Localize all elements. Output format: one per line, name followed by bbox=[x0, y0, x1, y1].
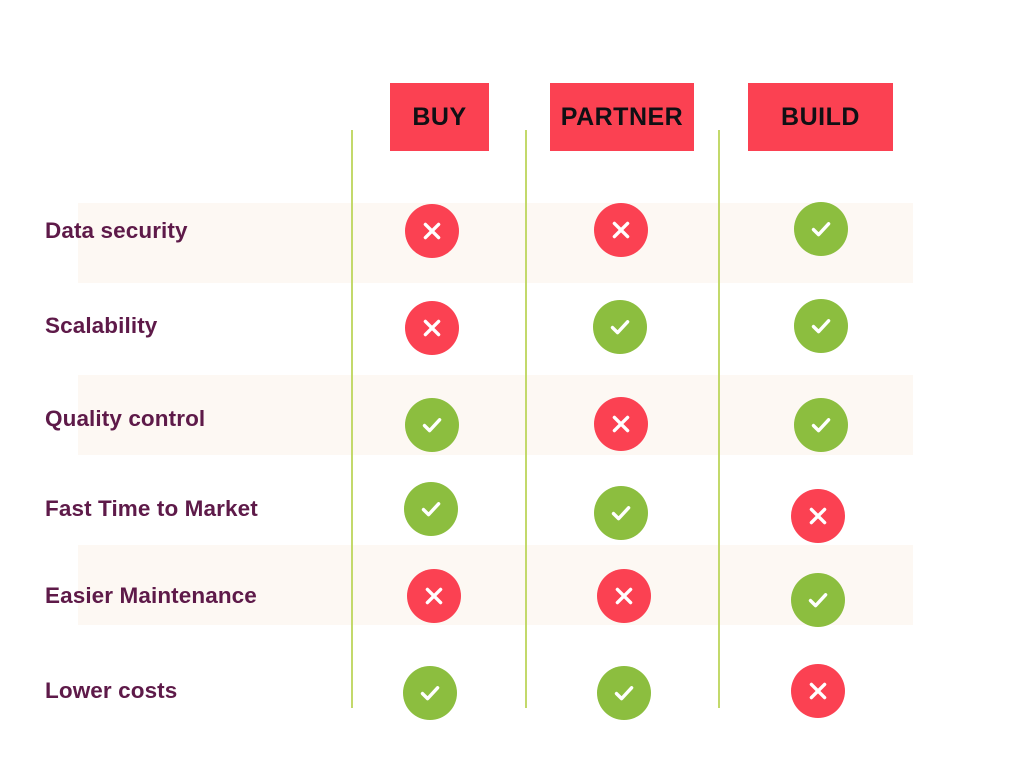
check-circle-icon bbox=[403, 666, 457, 720]
check-circle-icon bbox=[404, 482, 458, 536]
cross-circle-icon bbox=[594, 397, 648, 451]
check-circle-icon bbox=[794, 398, 848, 452]
cross-circle-icon bbox=[405, 204, 459, 258]
row-label: Fast Time to Market bbox=[45, 496, 258, 522]
row-label: Lower costs bbox=[45, 678, 177, 704]
cross-circle-icon bbox=[791, 489, 845, 543]
row-label: Scalability bbox=[45, 313, 157, 339]
cross-circle-icon bbox=[597, 569, 651, 623]
row-label: Quality control bbox=[45, 406, 205, 432]
column-header-label: PARTNER bbox=[561, 103, 683, 132]
row-label: Data security bbox=[45, 218, 188, 244]
column-header-label: BUILD bbox=[781, 103, 860, 132]
column-header-buy[interactable]: BUY bbox=[390, 83, 489, 151]
row-label: Easier Maintenance bbox=[45, 583, 257, 609]
check-circle-icon bbox=[593, 300, 647, 354]
row-stripe bbox=[78, 203, 913, 283]
column-header-partner[interactable]: PARTNER bbox=[550, 83, 694, 151]
check-circle-icon bbox=[794, 202, 848, 256]
cross-circle-icon bbox=[405, 301, 459, 355]
check-circle-icon bbox=[594, 486, 648, 540]
column-divider bbox=[525, 130, 527, 708]
cross-circle-icon bbox=[791, 664, 845, 718]
column-divider bbox=[351, 130, 353, 708]
column-header-build[interactable]: BUILD bbox=[748, 83, 893, 151]
column-header-label: BUY bbox=[412, 103, 466, 132]
check-circle-icon bbox=[405, 398, 459, 452]
column-divider bbox=[718, 130, 720, 708]
check-circle-icon bbox=[794, 299, 848, 353]
check-circle-icon bbox=[791, 573, 845, 627]
cross-circle-icon bbox=[594, 203, 648, 257]
comparison-table: BUYPARTNERBUILD Data securityScalability… bbox=[0, 0, 1024, 768]
check-circle-icon bbox=[597, 666, 651, 720]
cross-circle-icon bbox=[407, 569, 461, 623]
